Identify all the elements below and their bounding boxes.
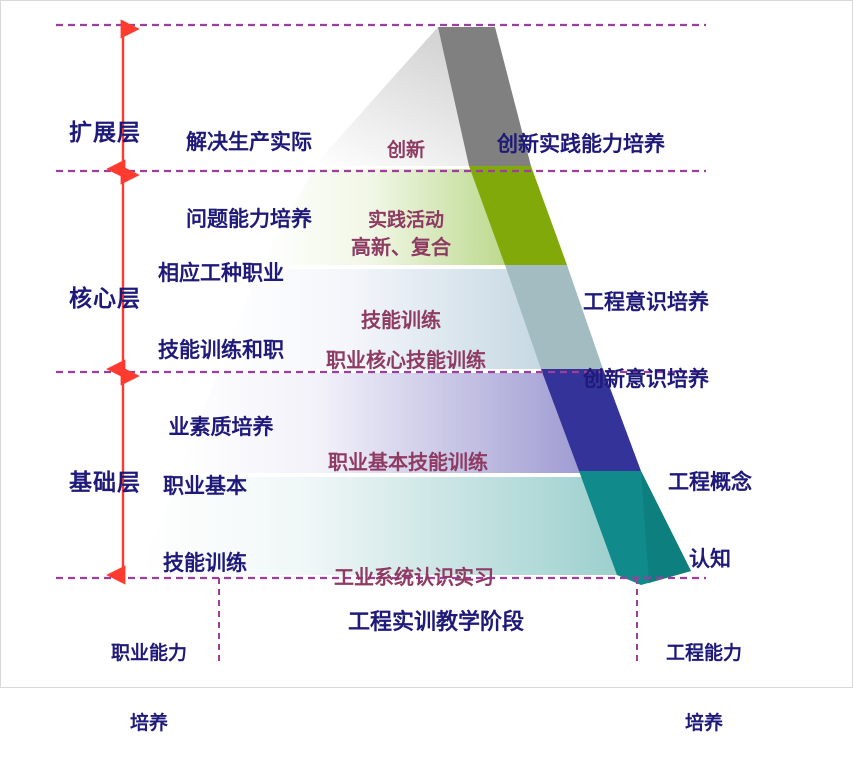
right-description-core-line2: 创新意识培养 xyxy=(566,367,726,393)
left-description-core-line2: 技能训练和职 xyxy=(141,338,301,364)
layer-label-expand: 扩展层 xyxy=(69,63,113,203)
left-description-core-line1: 相应工种职业 xyxy=(141,261,301,287)
pyramid-band-basic-skill-line1: 职业基本技能训练 xyxy=(313,450,503,474)
layer-label-core-text: 核心层 xyxy=(69,285,113,313)
pyramid-band-core-skill-line1: 职业核心技能训练 xyxy=(311,348,501,372)
pyramid-band-innovation-line1: 创新 xyxy=(356,139,456,162)
layer-label-expand-text: 扩展层 xyxy=(69,119,113,147)
footer-label-left-line1: 职业能力 xyxy=(94,642,204,665)
layer-label-base-text: 基础层 xyxy=(69,469,113,497)
pyramid-band-advanced-line1: 高新、复合 xyxy=(331,235,471,259)
footer-label-right-line1: 工程能力 xyxy=(649,642,759,665)
pyramid-band-basic-skill: 职业基本技能训练 xyxy=(313,401,503,523)
right-description-base-line2: 认知 xyxy=(656,547,764,573)
diagram-canvas: 扩展层 核心层 基础层 解决生产实际 问题能力培养 相应工种职业 技能训练和职 … xyxy=(0,0,853,688)
footer-label-left: 职业能力 培养 xyxy=(94,596,204,781)
right-description-base-line1: 工程概念 xyxy=(656,470,764,496)
left-description-expand-line1: 解决生产实际 xyxy=(159,130,339,156)
layer-label-core: 核心层 xyxy=(69,229,113,369)
layer-label-base: 基础层 xyxy=(69,413,113,553)
footer-label-left-line2: 培养 xyxy=(94,712,204,735)
left-description-base-line2: 技能训练 xyxy=(141,551,269,577)
right-description-core-line1: 工程意识培养 xyxy=(566,290,726,316)
footer-label-right: 工程能力 培养 xyxy=(649,596,759,781)
right-description-expand: 创新实践能力培养 xyxy=(481,81,681,209)
left-description-base-line1: 职业基本 xyxy=(141,474,269,500)
right-description-base: 工程概念 认知 xyxy=(656,419,764,624)
pyramid-band-industry-line1: 工业系统认识实习 xyxy=(319,565,509,589)
right-description-core: 工程意识培养 创新意识培养 xyxy=(566,239,726,444)
footer-label-center: 工程实训教学阶段 xyxy=(291,610,581,637)
right-description-expand-line1: 创新实践能力培养 xyxy=(481,132,681,158)
footer-label-right-line2: 培养 xyxy=(649,712,759,735)
